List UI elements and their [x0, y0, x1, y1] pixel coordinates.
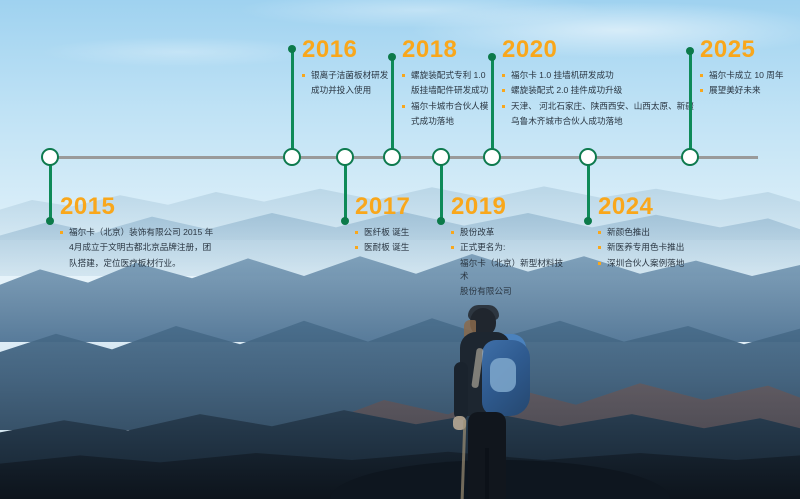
timeline-entry-2015: 2015福尔卡（北京）装饰有限公司 2015 年4月成立于文明古都北京品牌注册，…	[60, 195, 230, 272]
timeline-bullets-2020: 福尔卡 1.0 挂墙机研发成功螺旋装配式 2.0 挂件成功升级天津、 河北石家庄…	[502, 69, 694, 128]
timeline-entry-2017: 2017医纤板 诞生医耐板 诞生	[355, 195, 435, 257]
timeline-stem-2017	[344, 160, 347, 222]
timeline-bullet: 队搭建，定位医疗板材行业。	[60, 257, 230, 270]
timeline-stem-cap-2015	[46, 217, 54, 225]
timeline-bullets-2016: 银离子洁菌板材研发成功并投入使用	[302, 69, 398, 98]
timeline-year-label-2016: 2016	[302, 38, 398, 62]
timeline-bullet: 银离子洁菌板材研发	[302, 69, 398, 82]
timeline-bullet: 螺旋装配式 2.0 挂件成功升级	[502, 84, 694, 97]
timeline-bullet: 福尔卡（北京）装饰有限公司 2015 年	[60, 226, 230, 239]
timeline-bullet: 式成功落地	[402, 115, 502, 128]
trekking-pole	[461, 420, 467, 499]
timeline-marker-2025[interactable]	[681, 148, 699, 166]
timeline-entry-2025: 2025福尔卡成立 10 周年展望美好未来	[700, 38, 800, 100]
timeline-year-label-2024: 2024	[598, 195, 710, 219]
timeline-year-label-2018: 2018	[402, 38, 502, 62]
timeline-bullets-2018: 螺旋装配式专利 1.0版挂墙配件研发成功福尔卡城市合伙人模式成功落地	[402, 69, 502, 128]
timeline-bullet: 成功并投入使用	[302, 84, 398, 97]
timeline-stem-2019	[440, 160, 443, 222]
timeline-stem-cap-2025	[686, 47, 694, 55]
timeline-stem-cap-2020	[488, 53, 496, 61]
timeline-marker-2016[interactable]	[283, 148, 301, 166]
timeline-marker-2019[interactable]	[432, 148, 450, 166]
timeline-bullet: 深圳合伙人案例落地	[598, 257, 710, 270]
timeline-year-label-2017: 2017	[355, 195, 435, 219]
timeline-stem-2020	[491, 56, 494, 156]
timeline-bullet: 福尔卡成立 10 周年	[700, 69, 800, 82]
timeline-entry-2024: 2024新颜色推出新医养专用色卡推出深圳合伙人案例落地	[598, 195, 710, 272]
timeline-stem-2015	[49, 160, 52, 222]
timeline-bullet: 天津、 河北石家庄、陕西西安、山西太原、新疆	[502, 100, 694, 113]
timeline-bullets-2019: 股份改革正式更名为:福尔卡（北京）新型材料技术股份有限公司	[451, 226, 569, 299]
timeline-bullets-2024: 新颜色推出新医养专用色卡推出深圳合伙人案例落地	[598, 226, 710, 270]
timeline-bullets-2025: 福尔卡成立 10 周年展望美好未来	[700, 69, 800, 98]
timeline-bullet: 医耐板 诞生	[355, 241, 435, 254]
timeline-stem-cap-2018	[388, 53, 396, 61]
hiker-figure	[440, 308, 560, 499]
timeline-marker-2020[interactable]	[483, 148, 501, 166]
timeline-stem-2025	[689, 50, 692, 156]
timeline-stem-cap-2019	[437, 217, 445, 225]
timeline-marker-2017[interactable]	[336, 148, 354, 166]
hiker-leg-gap	[485, 448, 489, 499]
timeline-bullet: 股份改革	[451, 226, 569, 239]
timeline-stem-cap-2024	[584, 217, 592, 225]
timeline-infographic: 2015福尔卡（北京）装饰有限公司 2015 年4月成立于文明古都北京品牌注册，…	[0, 0, 800, 499]
timeline-bullet: 展望美好未来	[700, 84, 800, 97]
timeline-bullets-2017: 医纤板 诞生医耐板 诞生	[355, 226, 435, 255]
timeline-bullet: 医纤板 诞生	[355, 226, 435, 239]
timeline-bullet: 福尔卡 1.0 挂墙机研发成功	[502, 69, 694, 82]
timeline-bullet: 螺旋装配式专利 1.0	[402, 69, 502, 82]
timeline-year-label-2015: 2015	[60, 195, 230, 219]
timeline-bullet: 福尔卡（北京）新型材料技术	[451, 257, 569, 284]
timeline-bullet: 福尔卡城市合伙人模	[402, 100, 502, 113]
timeline-year-label-2019: 2019	[451, 195, 569, 219]
timeline-year-label-2020: 2020	[502, 38, 694, 62]
backpack-pocket	[490, 358, 516, 392]
timeline-stem-2018	[391, 56, 394, 156]
timeline-bullet: 新医养专用色卡推出	[598, 241, 710, 254]
timeline-year-label-2025: 2025	[700, 38, 800, 62]
hiker-arm	[454, 362, 468, 420]
timeline-bullets-2015: 福尔卡（北京）装饰有限公司 2015 年4月成立于文明古都北京品牌注册，团队搭建…	[60, 226, 230, 270]
timeline-bullet: 版挂墙配件研发成功	[402, 84, 502, 97]
timeline-stem-2024	[587, 160, 590, 222]
timeline-entry-2018: 2018螺旋装配式专利 1.0版挂墙配件研发成功福尔卡城市合伙人模式成功落地	[402, 38, 502, 130]
timeline-entry-2019: 2019股份改革正式更名为:福尔卡（北京）新型材料技术股份有限公司	[451, 195, 569, 301]
timeline-stem-2016	[291, 48, 294, 156]
timeline-marker-2018[interactable]	[383, 148, 401, 166]
timeline-stem-cap-2017	[341, 217, 349, 225]
timeline-bullet: 4月成立于文明古都北京品牌注册，团	[60, 241, 230, 254]
timeline-bullet: 新颜色推出	[598, 226, 710, 239]
timeline-stem-cap-2016	[288, 45, 296, 53]
timeline-bullet: 正式更名为:	[451, 241, 569, 254]
timeline-bullet: 乌鲁木齐城市合伙人成功落地	[502, 115, 694, 128]
timeline-entry-2016: 2016银离子洁菌板材研发成功并投入使用	[302, 38, 398, 100]
timeline-entry-2020: 2020福尔卡 1.0 挂墙机研发成功螺旋装配式 2.0 挂件成功升级天津、 河…	[502, 38, 694, 130]
timeline-marker-2024[interactable]	[579, 148, 597, 166]
timeline-marker-2015[interactable]	[41, 148, 59, 166]
timeline-bullet: 股份有限公司	[451, 285, 569, 298]
